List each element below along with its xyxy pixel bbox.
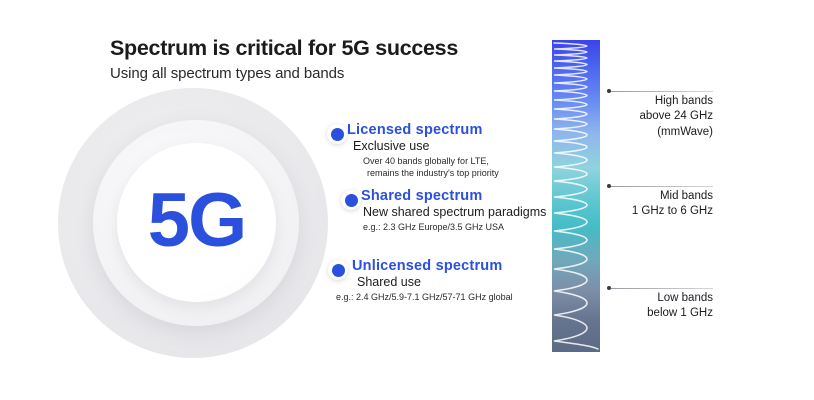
band-label-high-line1: High bands bbox=[583, 94, 713, 109]
spectrum-item-licensed-title: Licensed spectrum bbox=[347, 122, 499, 138]
band-label-low-line2: below 1 GHz bbox=[583, 306, 713, 321]
band-label-low: Low bands below 1 GHz bbox=[583, 291, 713, 322]
leader-line-stroke bbox=[611, 288, 713, 289]
band-label-high-line3: (mmWave) bbox=[583, 125, 713, 140]
infographic-canvas: Spectrum is critical for 5G success Usin… bbox=[0, 0, 814, 400]
band-label-mid: Mid bands 1 GHz to 6 GHz bbox=[583, 189, 713, 220]
bullet-dot-icon bbox=[327, 124, 347, 144]
hub-label-5g: 5G bbox=[148, 183, 245, 259]
leader-line-high-bands bbox=[607, 90, 713, 92]
page-title: Spectrum is critical for 5G success bbox=[110, 36, 458, 61]
band-label-high-line2: above 24 GHz bbox=[583, 109, 713, 124]
spectrum-item-shared-title: Shared spectrum bbox=[361, 188, 546, 204]
spectrum-item-licensed-note-2: remains the industry's top priority bbox=[367, 168, 499, 180]
band-label-high: High bands above 24 GHz (mmWave) bbox=[583, 94, 713, 140]
leader-line-stroke bbox=[611, 186, 713, 187]
band-label-low-line1: Low bands bbox=[583, 291, 713, 306]
band-label-mid-line2: 1 GHz to 6 GHz bbox=[583, 204, 713, 219]
spectrum-item-unlicensed-note-1: e.g.: 2.4 GHz/5.9-7.1 GHz/57-71 GHz glob… bbox=[336, 292, 513, 304]
band-label-mid-line1: Mid bands bbox=[583, 189, 713, 204]
spectrum-item-shared-subtitle: New shared spectrum paradigms bbox=[363, 205, 546, 219]
page-subtitle: Using all spectrum types and bands bbox=[110, 65, 344, 82]
spectrum-item-shared-note-1: e.g.: 2.3 GHz Europe/3.5 GHz USA bbox=[363, 222, 546, 234]
bullet-dot-icon bbox=[341, 190, 361, 210]
bullet-dot-icon bbox=[328, 260, 348, 280]
spectrum-item-unlicensed-title: Unlicensed spectrum bbox=[352, 258, 513, 274]
spectrum-item-licensed-subtitle: Exclusive use bbox=[353, 139, 499, 153]
leader-line-stroke bbox=[611, 91, 713, 92]
hub-ring-inner: 5G bbox=[117, 143, 276, 302]
spectrum-item-unlicensed-subtitle: Shared use bbox=[357, 275, 513, 289]
leader-line-low-bands bbox=[607, 287, 713, 289]
leader-line-mid-bands bbox=[607, 185, 713, 187]
spectrum-item-licensed-note-1: Over 40 bands globally for LTE, bbox=[363, 156, 499, 168]
